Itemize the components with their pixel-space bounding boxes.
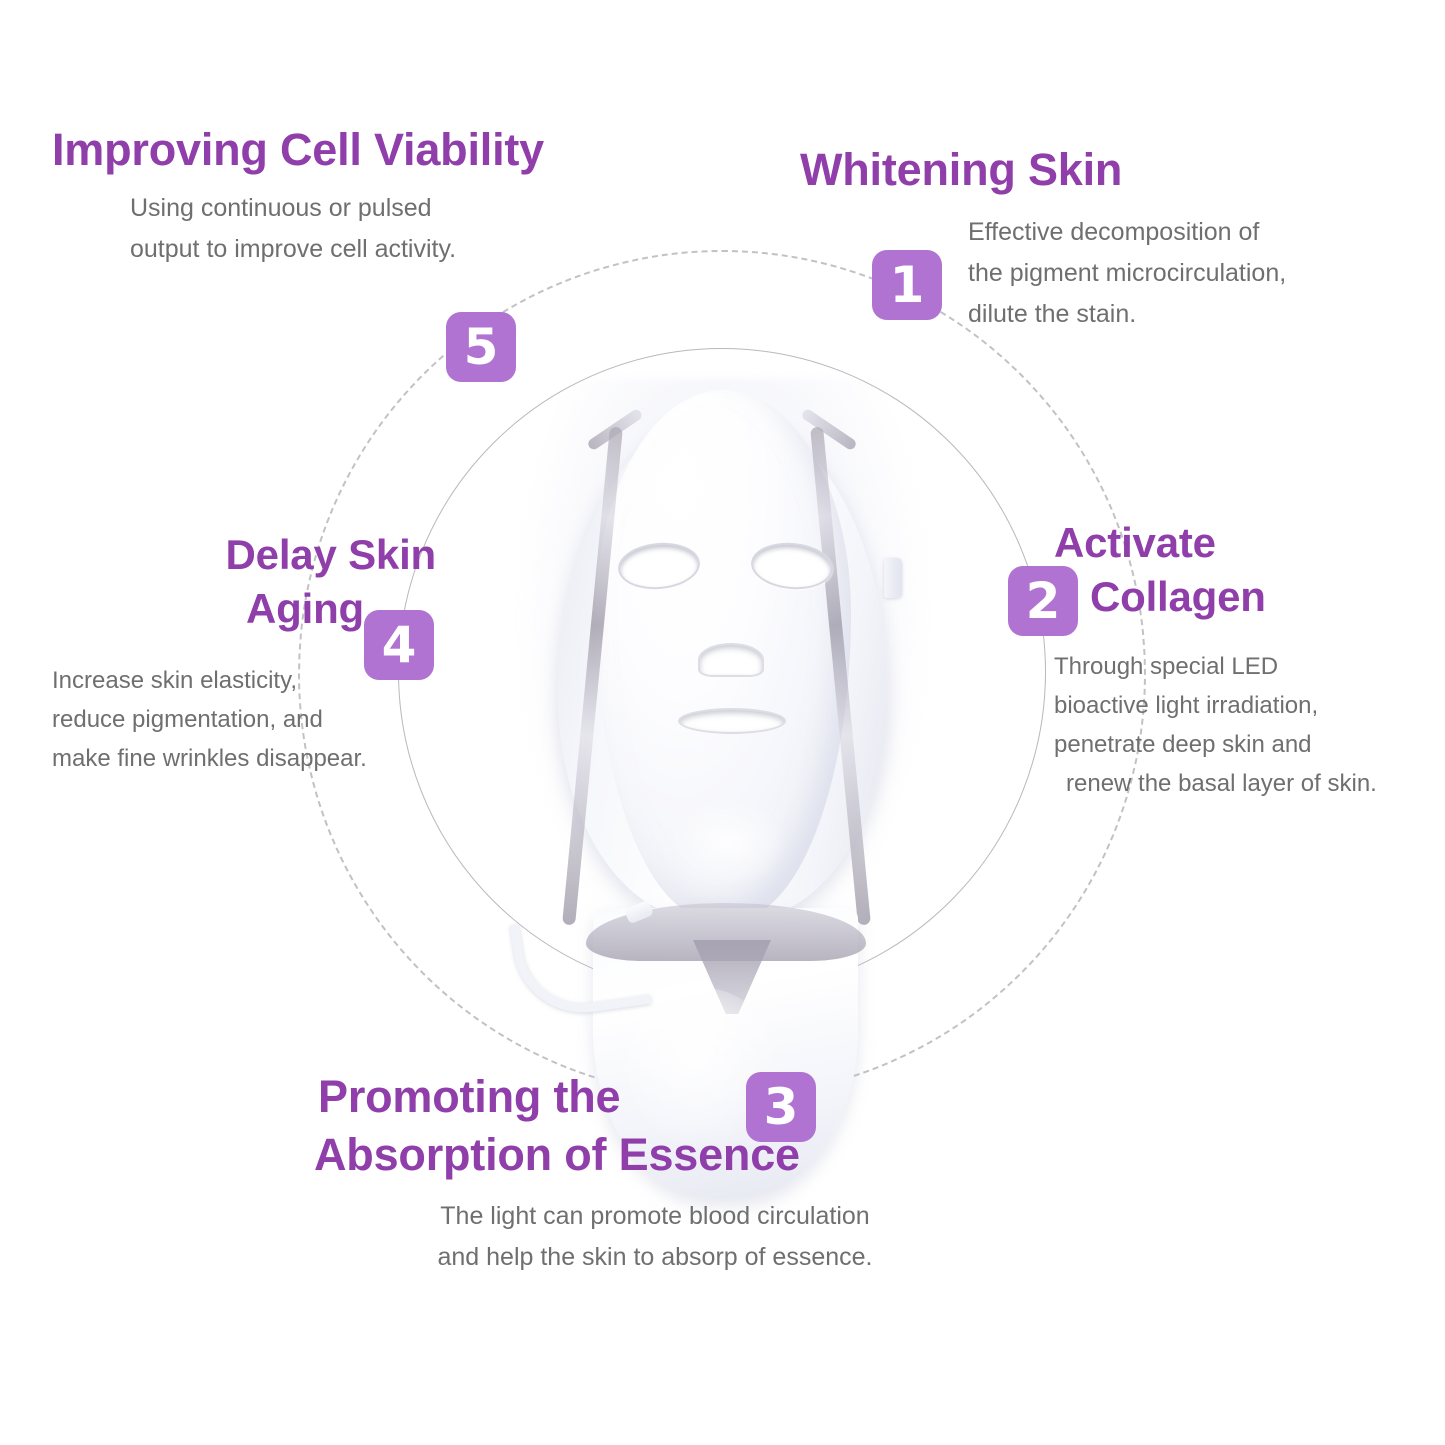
feature-block-5: Improving Cell Viability Using continuou… — [52, 122, 544, 276]
feature-badge-5[interactable]: 5 — [446, 312, 516, 382]
feature-3-title-line-2: Absorption of Essence — [300, 1126, 1000, 1184]
feature-4-line-2: reduce pigmentation, and — [52, 707, 472, 733]
feature-4-title-line-1: Delay Skin — [52, 528, 472, 582]
led-facial-mask-product-image — [498, 368, 948, 1000]
feature-block-3: Promoting the Absorption of Essence The … — [300, 1068, 1000, 1284]
feature-block-2: Activate Collagen Through special LED bi… — [1054, 516, 1377, 810]
feature-5-line-1: Using continuous or pulsed — [130, 194, 544, 222]
feature-3-line-2: and help the skin to absorp of essence. — [310, 1243, 1000, 1271]
feature-badge-4[interactable]: 4 — [364, 610, 434, 680]
feature-4-line-3: make fine wrinkles disappear. — [52, 746, 472, 772]
feature-5-line-2: output to improve cell activity. — [130, 235, 544, 263]
feature-5-title: Improving Cell Viability — [52, 122, 544, 178]
feature-2-line-3: penetrate deep skin and — [1054, 732, 1377, 758]
feature-4-description: Increase skin elasticity, reduce pigment… — [52, 668, 472, 772]
mask-highlight-chin — [668, 798, 788, 888]
feature-1-line-3: dilute the stain. — [968, 300, 1286, 328]
feature-1-line-2: the pigment microcirculation, — [968, 259, 1286, 287]
feature-badge-2[interactable]: 2 — [1008, 566, 1078, 636]
feature-2-line-1: Through special LED — [1054, 654, 1377, 680]
feature-2-title-line-2: Collagen — [1054, 570, 1377, 624]
feature-5-description: Using continuous or pulsed output to imp… — [52, 194, 544, 263]
feature-1-title: Whitening Skin — [800, 142, 1286, 198]
mask-nose-opening — [698, 643, 764, 677]
feature-2-line-2: bioactive light irradiation, — [1054, 693, 1377, 719]
mask-mouth-opening — [678, 708, 786, 734]
feature-3-title-line-1: Promoting the — [300, 1068, 1000, 1126]
infographic-canvas: Improving Cell Viability Using continuou… — [0, 0, 1445, 1445]
feature-1-line-1: Effective decomposition of — [968, 218, 1286, 246]
feature-badge-1[interactable]: 1 — [872, 250, 942, 320]
feature-2-line-4: renew the basal layer of skin. — [1054, 771, 1377, 797]
feature-3-line-1: The light can promote blood circulation — [310, 1202, 1000, 1230]
feature-2-description: Through special LED bioactive light irra… — [1054, 654, 1377, 797]
feature-2-title-line-1: Activate — [1054, 516, 1377, 570]
feature-3-description: The light can promote blood circulation … — [300, 1202, 1000, 1271]
mask-side-tab — [884, 558, 902, 598]
feature-badge-3[interactable]: 3 — [746, 1072, 816, 1142]
